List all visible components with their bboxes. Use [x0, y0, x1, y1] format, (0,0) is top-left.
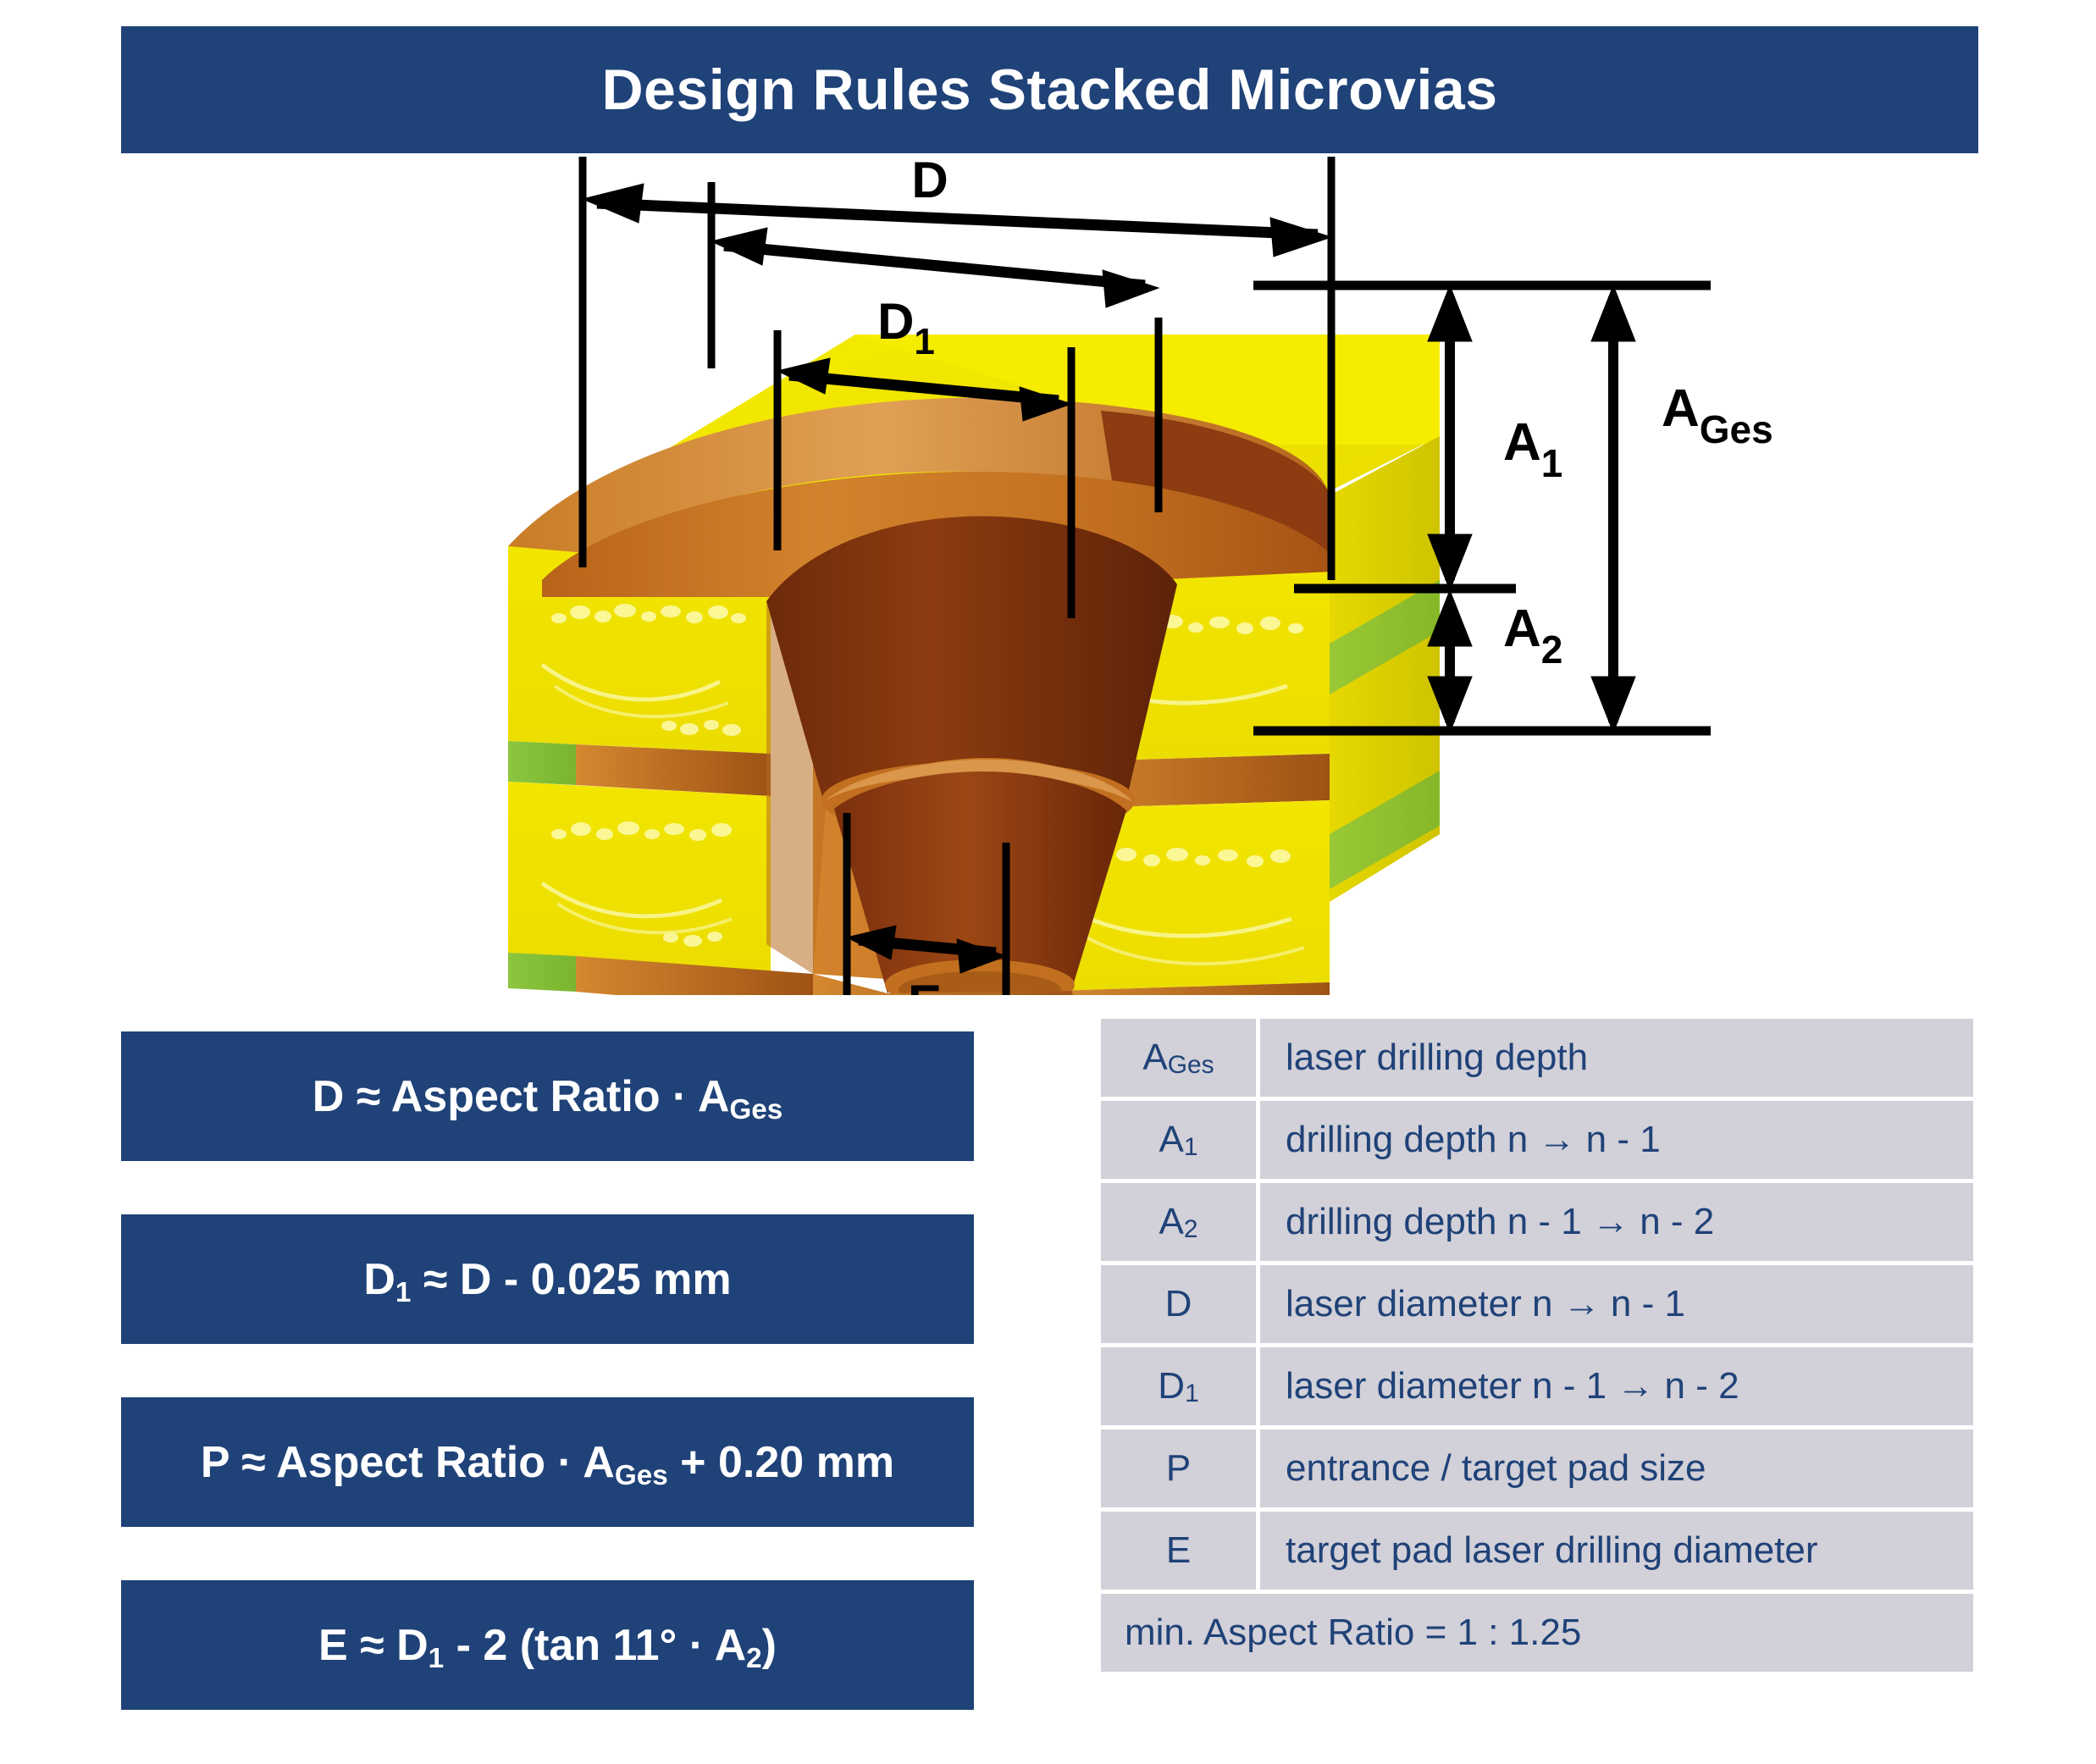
legend-description: target pad laser drilling diameter	[1260, 1512, 1973, 1590]
table-row: A1 drilling depth n → n - 1	[1101, 1101, 1973, 1179]
legend-description: drilling depth n → n - 1	[1260, 1101, 1973, 1179]
microvia-cross-section-illustration: P D D1 E A1 A2	[0, 157, 2096, 995]
soldermask-stripe-left-upper	[508, 741, 576, 785]
legend-description: entrance / target pad size	[1260, 1429, 1973, 1507]
legend-description: laser drilling depth	[1260, 1019, 1973, 1097]
legend-description: drilling depth n - 1 → n - 2	[1260, 1183, 1973, 1261]
legend-symbol: A2	[1101, 1183, 1256, 1261]
table-row: D1 laser diameter n - 1 → n - 2	[1101, 1347, 1973, 1425]
d-arrow-right	[1103, 270, 1159, 307]
formula-p-text: P ≈ Aspect Ratio · AGes + 0.20 mm	[201, 1437, 894, 1488]
table-row: E target pad laser drilling diameter	[1101, 1512, 1973, 1590]
table-row: D laser diameter n → n - 1	[1101, 1265, 1973, 1343]
pcb-block	[508, 335, 1440, 995]
d-dimension-line	[724, 246, 1145, 285]
legend-symbol: AGes	[1101, 1019, 1256, 1097]
formula-e-text: E ≈ D1 - 2 (tan 11° · A2)	[318, 1620, 777, 1671]
p-arrow-left	[583, 184, 644, 223]
formula-box-e: E ≈ D1 - 2 (tan 11° · A2)	[121, 1580, 974, 1710]
soldermask-stripe-left-lower	[508, 953, 576, 992]
legend-footer-note: min. Aspect Ratio = 1 : 1.25	[1101, 1594, 1973, 1672]
formula-d1-text: D1 ≈ D - 0.025 mm	[363, 1254, 731, 1305]
formula-box-p: P ≈ Aspect Ratio · AGes + 0.20 mm	[121, 1397, 974, 1527]
dielectric-layer-2-left	[508, 782, 771, 974]
ages-arrow-down	[1591, 677, 1635, 733]
formula-box-d: D ≈ Aspect Ratio · AGes	[121, 1031, 974, 1161]
symbol-legend-table: AGes laser drilling depth A1 drilling de…	[1101, 1019, 1973, 1672]
p-arrow-right	[1270, 218, 1331, 257]
legend-description: laser diameter n → n - 1	[1260, 1265, 1973, 1343]
formula-box-d1: D1 ≈ D - 0.025 mm	[121, 1214, 974, 1344]
ages-arrow-up	[1591, 285, 1635, 341]
table-row: P entrance / target pad size	[1101, 1429, 1973, 1507]
dimension-label-d: D	[911, 157, 948, 208]
legend-symbol: P	[1101, 1429, 1256, 1507]
legend-symbol: D1	[1101, 1347, 1256, 1425]
legend-symbol: E	[1101, 1512, 1256, 1590]
dimension-label-ages: AGes	[1662, 379, 1773, 451]
d-arrow-left	[711, 228, 767, 265]
formula-d-text: D ≈ Aspect Ratio · AGes	[312, 1071, 783, 1122]
table-row: A2 drilling depth n - 1 → n - 2	[1101, 1183, 1973, 1261]
p-dimension-line	[597, 203, 1318, 235]
a1-arrow-up	[1428, 285, 1472, 341]
legend-description: laser diameter n - 1 → n - 2	[1260, 1347, 1973, 1425]
dimension-label-a2: A2	[1503, 600, 1562, 672]
dimension-label-p: P	[861, 157, 896, 160]
title-bar: Design Rules Stacked Microvias	[121, 26, 1978, 153]
page-title: Design Rules Stacked Microvias	[601, 57, 1497, 123]
dimension-label-a1: A1	[1503, 413, 1562, 485]
legend-symbol: D	[1101, 1265, 1256, 1343]
table-row: AGes laser drilling depth	[1101, 1019, 1973, 1097]
dimension-label-e: E	[908, 975, 942, 995]
legend-symbol: A1	[1101, 1101, 1256, 1179]
